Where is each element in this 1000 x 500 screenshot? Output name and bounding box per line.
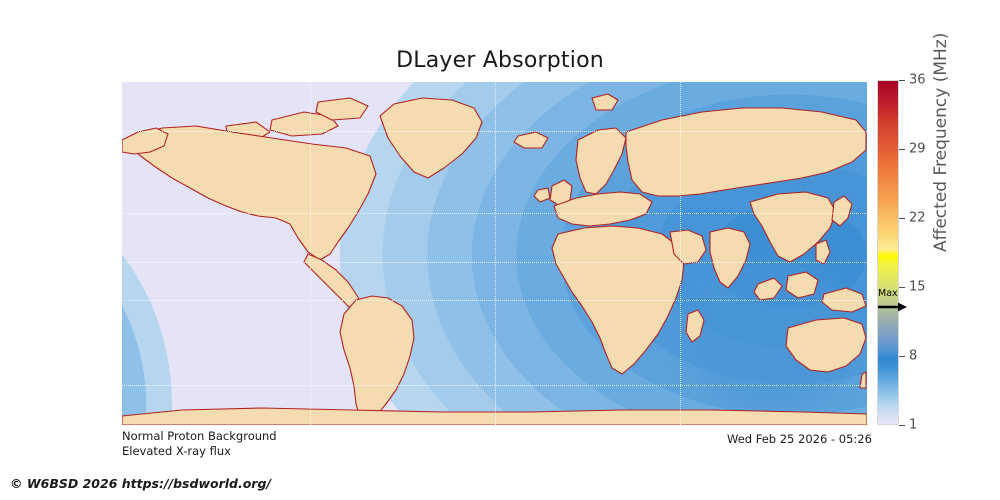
timestamp: Wed Feb 25 2026 - 05:26 (727, 432, 872, 446)
colorbar-ticklabel-36: 36 (909, 73, 926, 88)
landmass-philippines (816, 240, 830, 264)
colorbar-tick-36 (899, 80, 905, 81)
world-map-panel[interactable] (122, 82, 867, 425)
landmass-ireland (534, 188, 550, 202)
note-proton-background: Normal Proton Background (122, 429, 277, 444)
landmass-borneo (786, 272, 818, 298)
landmass-iceland (514, 132, 548, 148)
landmass-south-america (340, 296, 414, 424)
landmass-madagascar (686, 310, 704, 342)
coastlines-layer (122, 82, 867, 425)
landmass-new-zealand (860, 372, 866, 388)
landmass-antarctica (122, 408, 867, 425)
landmass-scandinavia (576, 128, 626, 194)
colorbar-ticklabel-29: 29 (909, 142, 926, 157)
colorbar-axis-label: Affected Frequency (MHz) (931, 33, 951, 252)
colorbar-ticklabel-1: 1 (909, 418, 917, 433)
status-notes: Normal Proton Background Elevated X-ray … (122, 429, 277, 459)
colorbar-tick-22 (899, 218, 905, 219)
note-xray-flux: Elevated X-ray flux (122, 444, 277, 459)
landmass-svalbard (592, 94, 618, 110)
page-title: DLayer Absorption (0, 48, 1000, 73)
landmass-africa (552, 226, 684, 374)
colorbar-ticklabel-15: 15 (909, 280, 926, 295)
colorbar-tick-29 (899, 149, 905, 150)
landmass-siberia (626, 108, 866, 196)
landmass-new-guinea (822, 288, 866, 312)
colorbar-ticklabel-8: 8 (909, 349, 917, 364)
landmass-japan (832, 196, 852, 226)
colorbar-tick-1 (899, 425, 905, 426)
landmass-india (710, 228, 750, 288)
colorbar-tick-15 (899, 287, 905, 288)
landmass-north-america (130, 126, 376, 260)
colorbar[interactable]: 3629221581 (877, 80, 899, 425)
credit-line: © W6BSD 2026 https://bsdworld.org/ (10, 476, 271, 491)
landmass-australia (786, 318, 866, 372)
landmass-sumatra (754, 278, 782, 300)
colorbar-tick-8 (899, 356, 905, 357)
colorbar-gradient (877, 80, 899, 425)
colorbar-ticklabel-22: 22 (909, 211, 926, 226)
landmass-greenland (380, 98, 482, 178)
